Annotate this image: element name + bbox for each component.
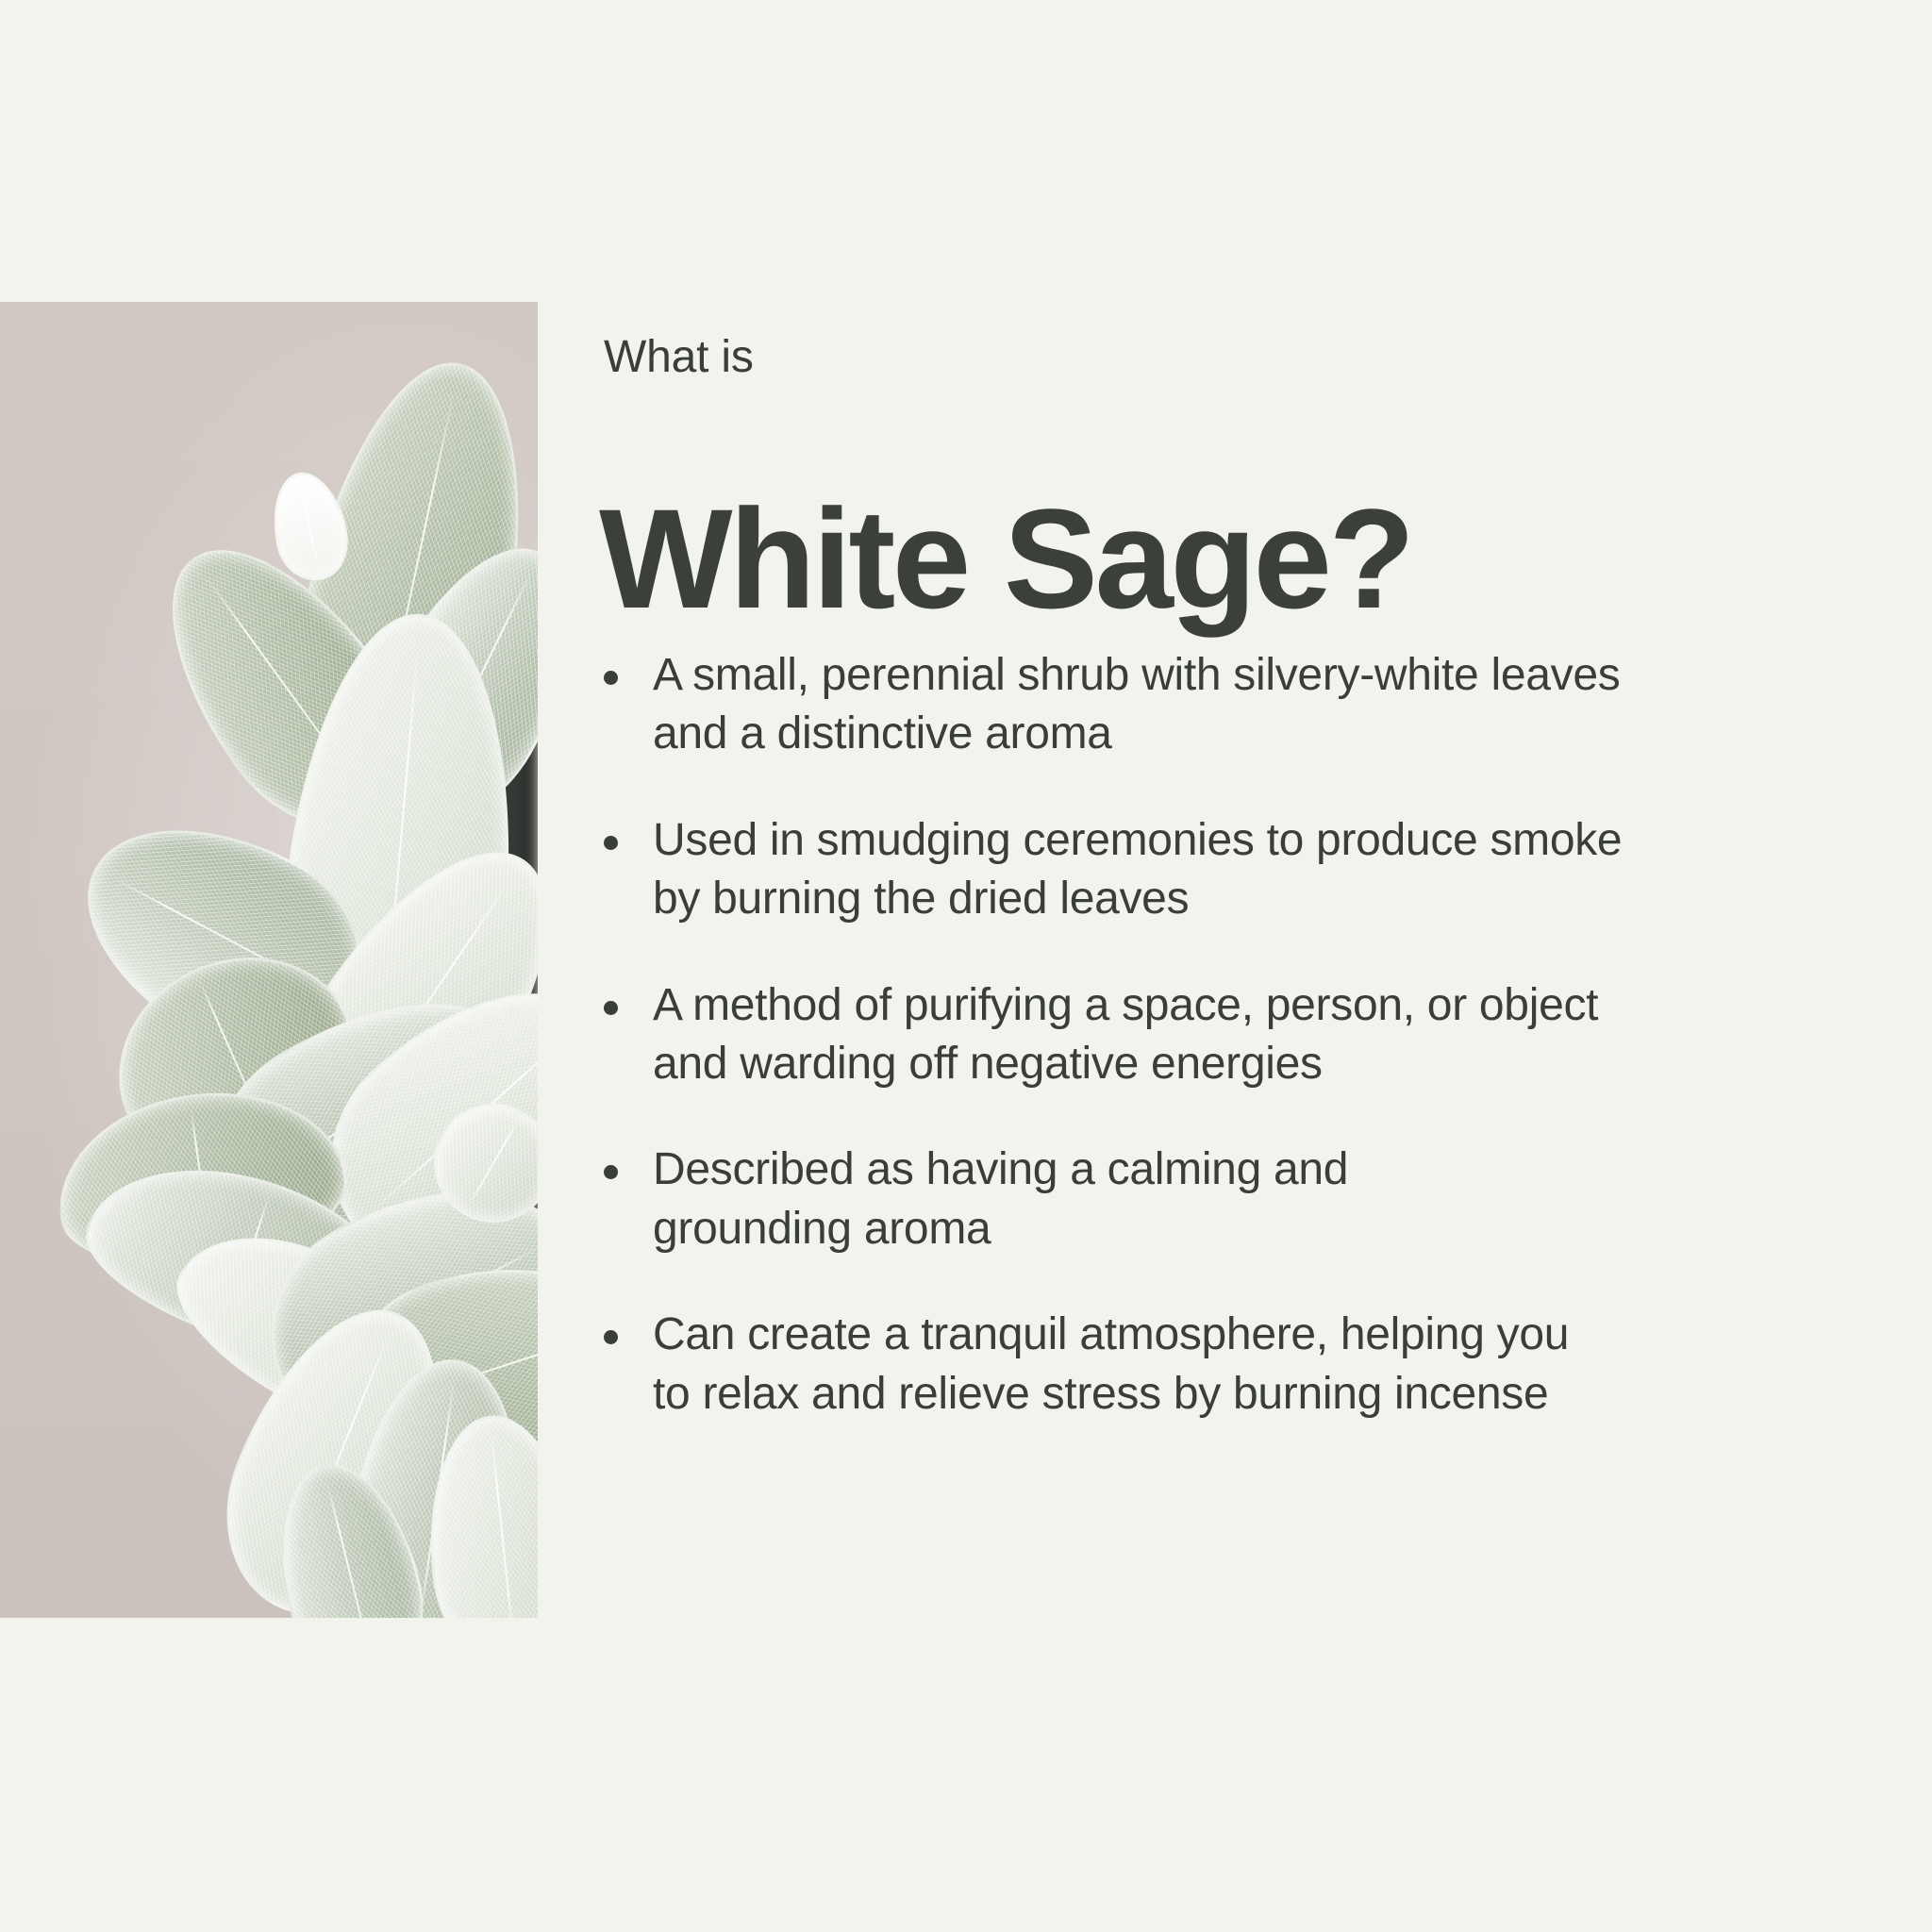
bullet-dot-icon <box>604 836 618 850</box>
list-item-line: A small, perennial shrub with silvery-wh… <box>653 646 1858 705</box>
bullet-dot-icon <box>604 1001 618 1015</box>
sage-plant-image <box>0 302 538 1618</box>
eyebrow-text: What is <box>604 335 754 380</box>
list-item-line: and warding off negative energies <box>653 1035 1858 1093</box>
list-item: A method of purifying a space, person, o… <box>604 976 1858 1094</box>
list-item-line: Used in smudging ceremonies to produce s… <box>653 811 1858 870</box>
bullet-dot-icon <box>604 1165 618 1179</box>
bullet-dot-icon <box>604 671 618 685</box>
list-item: Used in smudging ceremonies to produce s… <box>604 811 1858 929</box>
content-column: What is White Sage? A small, perennial s… <box>604 0 1858 1932</box>
list-item: Described as having a calming and ground… <box>604 1141 1858 1258</box>
list-item: A small, perennial shrub with silvery-wh… <box>604 646 1858 764</box>
list-item-line: to relax and relieve stress by burning i… <box>653 1365 1858 1424</box>
list-item-line: Described as having a calming and <box>653 1141 1858 1199</box>
infographic-poster: What is White Sage? A small, perennial s… <box>0 0 1932 1932</box>
list-item-line: grounding aroma <box>653 1200 1858 1258</box>
list-item-line: A method of purifying a space, person, o… <box>653 976 1858 1035</box>
benefits-list: A small, perennial shrub with silvery-wh… <box>604 646 1858 1424</box>
list-item-line: Can create a tranquil atmosphere, helpin… <box>653 1306 1858 1364</box>
list-item-line: and a distinctive aroma <box>653 705 1858 763</box>
bullet-dot-icon <box>604 1330 618 1344</box>
list-item-line: by burning the dried leaves <box>653 870 1858 928</box>
page-title: White Sage? <box>599 487 1412 631</box>
list-item: Can create a tranquil atmosphere, helpin… <box>604 1306 1858 1424</box>
